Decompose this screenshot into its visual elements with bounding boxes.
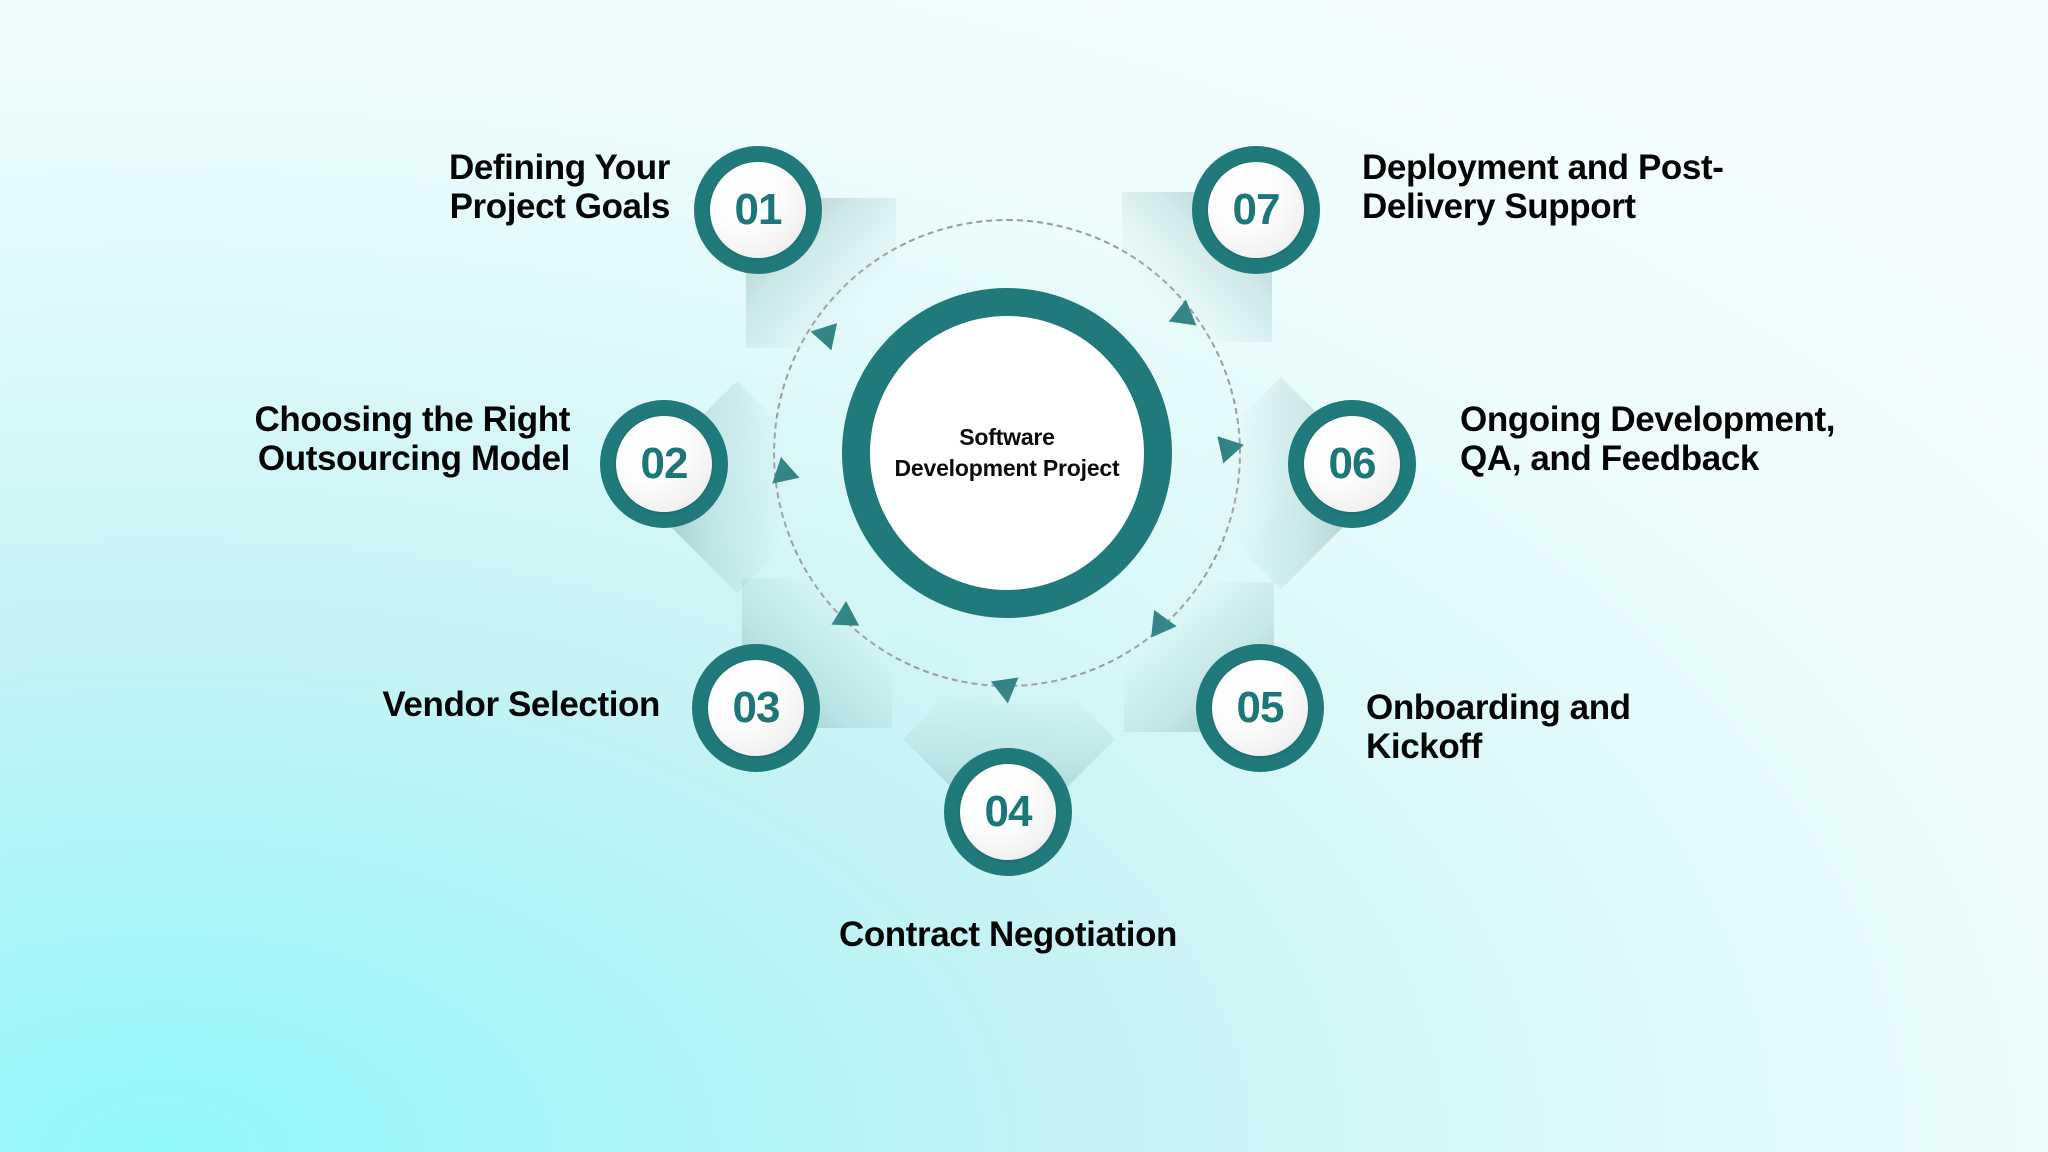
badge-circle-03[interactable]: 03: [692, 644, 820, 772]
badge-circle-02[interactable]: 02: [600, 400, 728, 528]
badge-inner-06: 06: [1304, 416, 1400, 512]
step-node-04[interactable]: 04: [944, 748, 1072, 876]
badge-inner-05: 05: [1212, 660, 1308, 756]
step-node-07[interactable]: 07: [1192, 146, 1320, 274]
badge-number-01: 01: [735, 188, 782, 232]
step-label-03: Vendor Selection: [260, 685, 660, 724]
step-label-01: Defining Your Project Goals: [340, 148, 670, 226]
badge-circle-07[interactable]: 07: [1192, 146, 1320, 274]
step-label-02: Choosing the Right Outsourcing Model: [170, 400, 570, 478]
badge-number-05: 05: [1237, 686, 1284, 730]
badge-circle-05[interactable]: 05: [1196, 644, 1324, 772]
badge-number-06: 06: [1329, 442, 1376, 486]
step-node-05[interactable]: 05: [1196, 644, 1324, 772]
badge-circle-04[interactable]: 04: [944, 748, 1072, 876]
badge-number-04: 04: [985, 790, 1032, 834]
step-label-05: Onboarding and Kickoff: [1366, 688, 1786, 766]
badge-number-02: 02: [641, 442, 688, 486]
step-node-01[interactable]: 01: [694, 146, 822, 274]
step-label-06: Ongoing Development, QA, and Feedback: [1460, 400, 1940, 478]
step-label-07: Deployment and Post- Delivery Support: [1362, 148, 1862, 226]
center-hub: Software Development Project: [842, 288, 1172, 618]
badge-number-03: 03: [733, 686, 780, 730]
center-hub-line-1: Software: [895, 422, 1120, 453]
step-node-02[interactable]: 02: [600, 400, 728, 528]
center-hub-line-2: Development Project: [895, 453, 1120, 484]
badge-circle-06[interactable]: 06: [1288, 400, 1416, 528]
badge-number-07: 07: [1233, 188, 1280, 232]
step-node-03[interactable]: 03: [692, 644, 820, 772]
center-hub-text: Software Development Project: [895, 422, 1120, 484]
infographic-canvas: 01 Defining Your Project Goals 02 Choosi…: [0, 0, 2048, 1152]
badge-inner-07: 07: [1208, 162, 1304, 258]
badge-inner-04: 04: [960, 764, 1056, 860]
badge-circle-01[interactable]: 01: [694, 146, 822, 274]
badge-inner-01: 01: [710, 162, 806, 258]
badge-inner-03: 03: [708, 660, 804, 756]
badge-inner-02: 02: [616, 416, 712, 512]
step-label-04: Contract Negotiation: [808, 915, 1208, 954]
step-node-06[interactable]: 06: [1288, 400, 1416, 528]
